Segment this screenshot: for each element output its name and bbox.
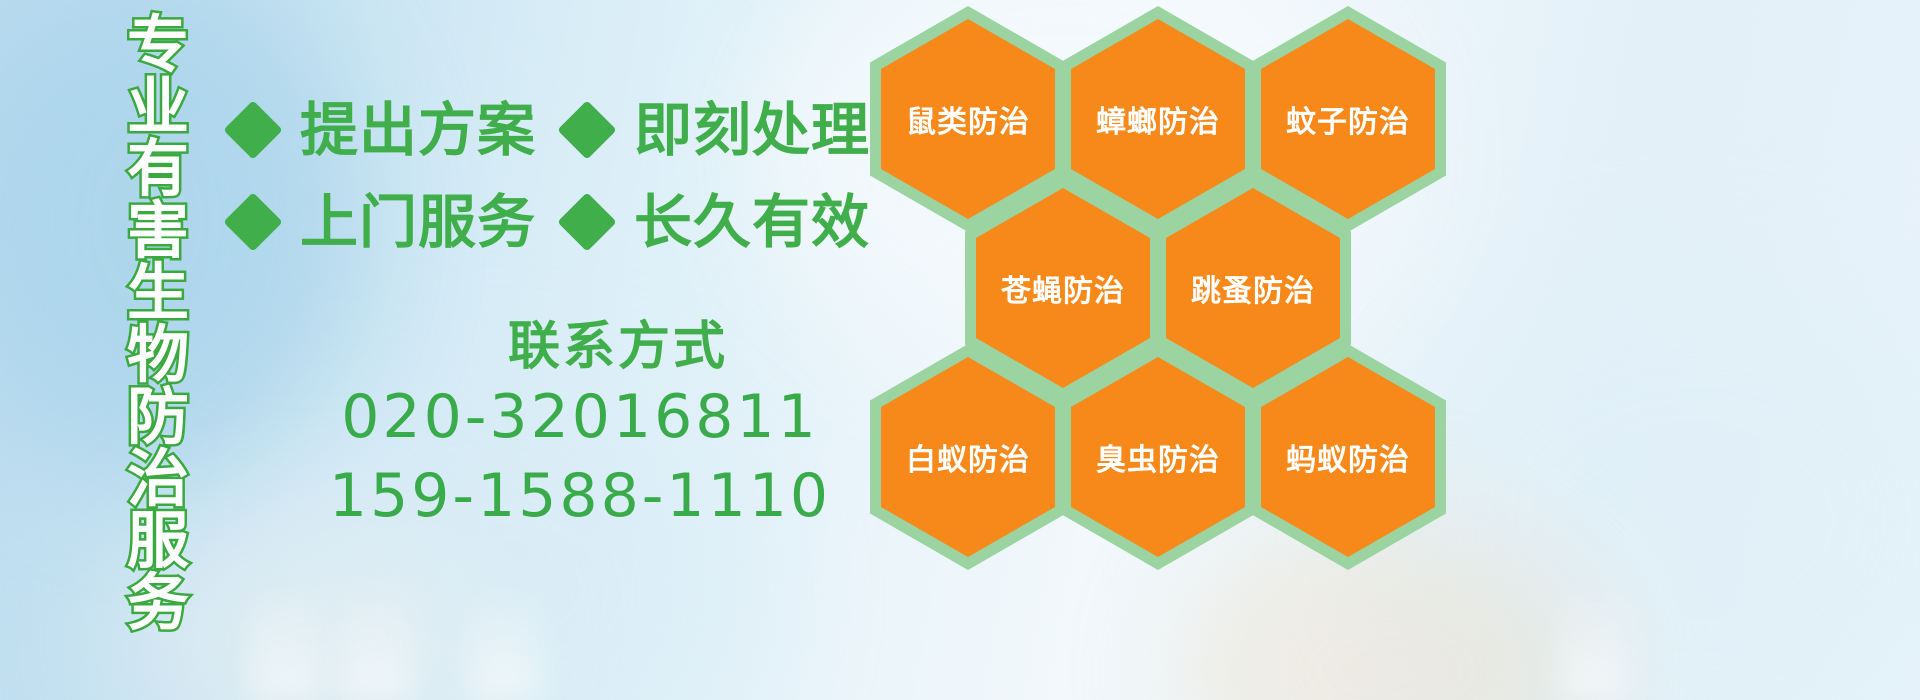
service-label: 跳蚤防治: [1191, 266, 1315, 310]
service-label: 蚂蚁防治: [1286, 435, 1410, 479]
contact-heading: 联系方式: [344, 318, 892, 378]
vertical-title-char: 害: [127, 200, 189, 262]
hex-inner: 蟑螂防治: [1071, 19, 1245, 219]
service-label: 臭虫防治: [1096, 435, 1220, 479]
hex-inner: 白蚁防治: [881, 357, 1055, 557]
background-streak: [250, 580, 320, 700]
service-honeycomb: 鼠类防治 蟑螂防治 蚊子防治 苍蝇防治 跳蚤防治 白蚁防治 臭虫防治 蚂蚁防治: [862, 0, 1462, 558]
background-streak: [340, 580, 410, 700]
diamond-bullet-icon: [223, 100, 282, 159]
selling-point-label: 上门服务: [300, 193, 536, 251]
diamond-bullet-icon: [557, 100, 616, 159]
hex-inner: 臭虫防治: [1071, 357, 1245, 557]
contact-block: 联系方式 020-32016811 159-1588-1110: [232, 318, 892, 536]
selling-point-row: 提出方案 即刻处理: [232, 84, 872, 176]
vertical-title-char: 务: [127, 572, 189, 634]
selling-point-row: 上门服务 长久有效: [232, 176, 872, 268]
vertical-title-char: 专: [127, 14, 189, 76]
selling-point-label: 长久有效: [634, 193, 870, 251]
service-label: 蟑螂防治: [1096, 97, 1220, 141]
service-label: 蚊子防治: [1286, 97, 1410, 141]
phone-number-landline[interactable]: 020-32016811: [268, 378, 892, 457]
background-streak: [1560, 580, 1630, 700]
vertical-title-char: 物: [127, 324, 189, 386]
service-label: 苍蝇防治: [1001, 266, 1125, 310]
selling-point: 即刻处理: [566, 101, 870, 159]
service-label: 白蚁防治: [906, 435, 1030, 479]
hex-inner: 蚂蚁防治: [1261, 357, 1435, 557]
service-label: 鼠类防治: [906, 97, 1030, 141]
phone-number-mobile[interactable]: 159-1588-1110: [268, 457, 892, 536]
hex-inner: 苍蝇防治: [976, 188, 1150, 388]
vertical-title-char: 业: [127, 76, 189, 138]
diamond-bullet-icon: [557, 192, 616, 251]
selling-point: 长久有效: [566, 193, 870, 251]
vertical-title-char: 防: [127, 386, 189, 448]
selling-point: 提出方案: [232, 101, 536, 159]
selling-point: 上门服务: [232, 193, 536, 251]
vertical-brand-title: 专 业 有 害 生 物 防 治 服 务: [106, 14, 210, 574]
background-streak: [470, 580, 540, 700]
diamond-bullet-icon: [223, 192, 282, 251]
vertical-title-char: 治: [127, 448, 189, 510]
hex-inner: 蚊子防治: [1261, 19, 1435, 219]
hex-inner: 跳蚤防治: [1166, 188, 1340, 388]
selling-point-label: 提出方案: [300, 101, 536, 159]
vertical-title-char: 有: [127, 138, 189, 200]
selling-points: 提出方案 即刻处理 上门服务 长久有效: [232, 84, 872, 268]
vertical-title-char: 生: [127, 262, 189, 324]
hex-inner: 鼠类防治: [881, 19, 1055, 219]
vertical-title-char: 服: [127, 510, 189, 572]
selling-point-label: 即刻处理: [634, 101, 870, 159]
